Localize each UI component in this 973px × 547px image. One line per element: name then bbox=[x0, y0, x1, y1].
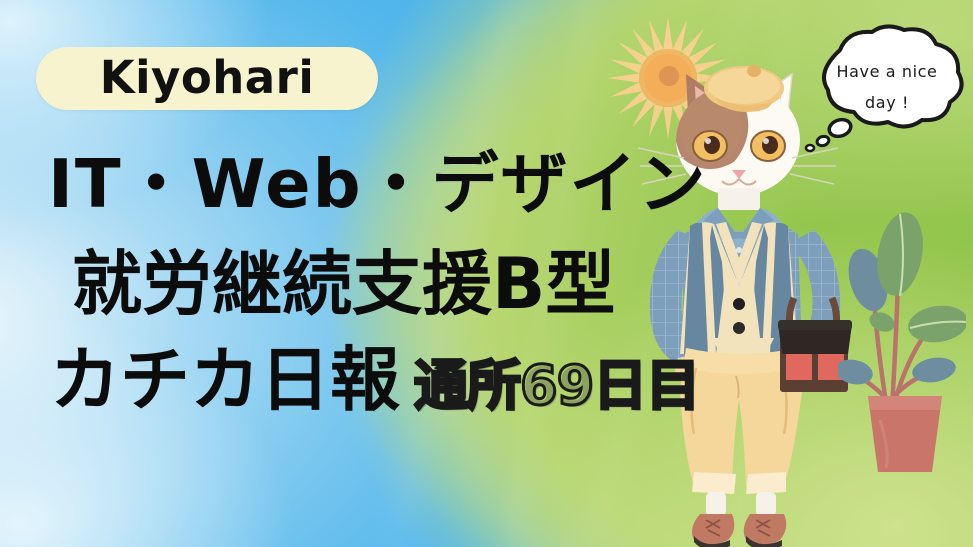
brand-badge: Kiyohari bbox=[36, 47, 378, 110]
banner-canvas: Have a nice day ! Kiyohari IT・Web・デザイン 就… bbox=[0, 0, 973, 547]
brand-badge-label: Kiyohari bbox=[100, 55, 315, 100]
headline-day-count: 通所69日目 bbox=[414, 354, 699, 417]
bubble-line-2: day ! bbox=[812, 87, 962, 118]
thought-bubble-text: Have a nice day ! bbox=[812, 56, 962, 118]
headline-line-3: カチカ日報通所69日目 bbox=[50, 345, 699, 415]
bubble-line-1: Have a nice bbox=[812, 56, 962, 87]
headline-line-3-main: カチカ日報 bbox=[50, 339, 400, 421]
headline-line-2: 就労継続支援B型 bbox=[72, 249, 615, 319]
potted-plant-illustration bbox=[838, 172, 966, 472]
headline-line-1: IT・Web・デザイン bbox=[48, 151, 708, 218]
